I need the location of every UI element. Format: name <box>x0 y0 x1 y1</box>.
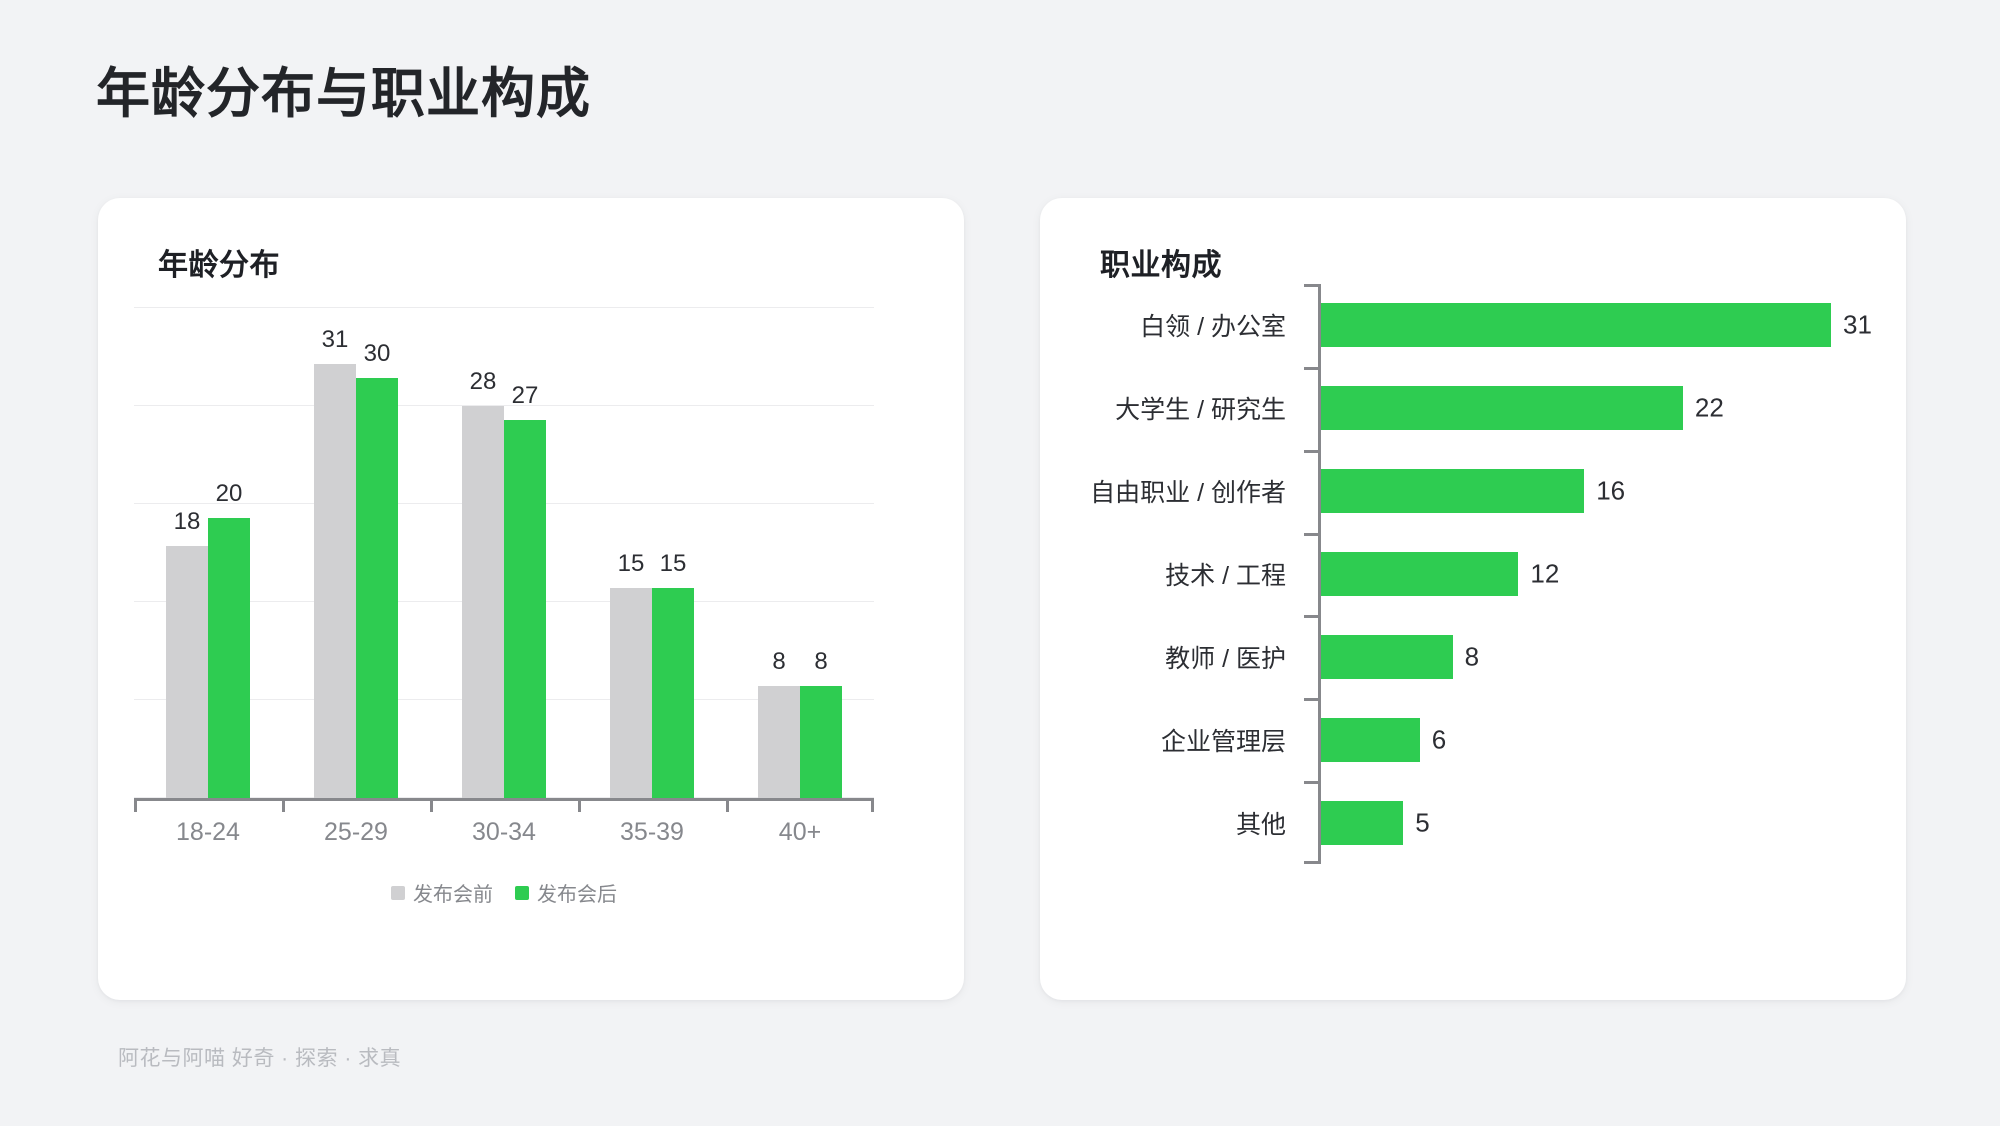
bar-pre-event[interactable]: 15 <box>610 588 652 798</box>
occupation-row[interactable]: 白领 / 办公室31 <box>1086 303 1866 347</box>
age-bar-group: 2827 <box>430 308 578 798</box>
occupation-category-label: 教师 / 医护 <box>1165 639 1304 675</box>
x-axis-tick <box>578 798 581 812</box>
occupation-bar[interactable] <box>1321 303 1831 347</box>
occupation-chart-title: 职业构成 <box>1100 240 1222 284</box>
bar-pair: 1515 <box>578 308 726 798</box>
legend-label: 发布会前 <box>413 878 493 907</box>
age-bar-group: 1820 <box>134 308 282 798</box>
bar-pre-event[interactable]: 28 <box>462 406 504 798</box>
age-chart-plot-area: 182031302827151588 <box>134 308 874 798</box>
legend-swatch-icon <box>391 886 405 900</box>
age-chart-x-tick-labels: 18-2425-2930-3435-3940+ <box>134 818 874 858</box>
occupation-bar[interactable] <box>1321 718 1420 762</box>
x-axis-tick <box>134 798 137 812</box>
occupation-value-label: 6 <box>1432 724 1446 755</box>
age-chart-title: 年龄分布 <box>158 240 280 284</box>
x-axis-tick <box>871 798 874 812</box>
bar-value-label: 8 <box>814 648 827 676</box>
bar-post-event[interactable]: 15 <box>652 588 694 798</box>
bar-pre-event[interactable]: 18 <box>166 546 208 798</box>
bar-post-event[interactable]: 8 <box>800 686 842 798</box>
occupation-category-label: 自由职业 / 创作者 <box>1090 473 1304 509</box>
legend-label: 发布会后 <box>537 878 617 907</box>
occupation-category-label: 其他 <box>1236 805 1304 841</box>
occupation-category-label: 技术 / 工程 <box>1165 556 1304 592</box>
occupation-category-label: 企业管理层 <box>1161 722 1304 758</box>
age-chart-legend: 发布会前发布会后 <box>134 878 874 907</box>
occupation-bar[interactable] <box>1321 635 1453 679</box>
x-axis-tick <box>430 798 433 812</box>
x-tick-label: 25-29 <box>324 818 388 847</box>
bar-pair: 3130 <box>282 308 430 798</box>
occupation-value-label: 12 <box>1530 559 1559 590</box>
age-distribution-card: 年龄分布 182031302827151588 18-2425-2930-343… <box>98 198 964 1000</box>
occupation-card: 职业构成 白领 / 办公室31大学生 / 研究生22自由职业 / 创作者16技术… <box>1040 198 1906 1000</box>
y-axis-tick <box>1304 450 1318 453</box>
legend-item[interactable]: 发布会后 <box>515 878 617 907</box>
occupation-value-label: 31 <box>1843 310 1872 341</box>
bar-post-event[interactable]: 27 <box>504 420 546 798</box>
occupation-row[interactable]: 教师 / 医护8 <box>1086 635 1866 679</box>
bar-pair: 88 <box>726 308 874 798</box>
footer-text: 阿花与阿喵 好奇 · 探索 · 求真 <box>118 1042 401 1072</box>
occupation-bar[interactable] <box>1321 386 1683 430</box>
occupation-value-label: 8 <box>1465 641 1479 672</box>
x-tick-label: 30-34 <box>472 818 536 847</box>
bar-pair: 2827 <box>430 308 578 798</box>
occupation-row[interactable]: 其他5 <box>1086 801 1866 845</box>
bar-pre-event[interactable]: 31 <box>314 364 356 798</box>
y-axis-cap-bottom <box>1304 861 1318 864</box>
occupation-bar[interactable] <box>1321 552 1518 596</box>
slide-root: 年龄分布与职业构成 年龄分布 182031302827151588 18-242… <box>0 0 2000 1126</box>
age-chart-x-axis <box>134 798 874 812</box>
occupation-bar[interactable] <box>1321 801 1403 845</box>
bar-value-label: 30 <box>364 340 391 368</box>
occupation-row[interactable]: 技术 / 工程12 <box>1086 552 1866 596</box>
x-axis-tick <box>726 798 729 812</box>
bar-pre-event[interactable]: 8 <box>758 686 800 798</box>
x-tick-label: 40+ <box>779 818 821 847</box>
bar-value-label: 27 <box>512 382 539 410</box>
occupation-chart-plot-area: 白领 / 办公室31大学生 / 研究生22自由职业 / 创作者16技术 / 工程… <box>1086 284 1866 864</box>
bar-value-label: 28 <box>470 368 497 396</box>
legend-item[interactable]: 发布会前 <box>391 878 493 907</box>
x-tick-label: 35-39 <box>620 818 684 847</box>
x-tick-label: 18-24 <box>176 818 240 847</box>
occupation-value-label: 22 <box>1695 393 1724 424</box>
bar-value-label: 31 <box>322 326 349 354</box>
x-axis-line <box>134 798 874 801</box>
age-bar-group: 88 <box>726 308 874 798</box>
bar-post-event[interactable]: 20 <box>208 518 250 798</box>
y-axis-tick <box>1304 781 1318 784</box>
occupation-row[interactable]: 自由职业 / 创作者16 <box>1086 469 1866 513</box>
occupation-category-label: 白领 / 办公室 <box>1140 307 1304 343</box>
page-title: 年龄分布与职业构成 <box>96 62 591 127</box>
legend-swatch-icon <box>515 886 529 900</box>
y-axis-tick <box>1304 698 1318 701</box>
occupation-bar[interactable] <box>1321 469 1584 513</box>
age-bar-group: 1515 <box>578 308 726 798</box>
occupation-value-label: 5 <box>1415 807 1429 838</box>
y-axis-tick <box>1304 367 1318 370</box>
age-bar-group: 3130 <box>282 308 430 798</box>
occupation-row[interactable]: 企业管理层6 <box>1086 718 1866 762</box>
bar-post-event[interactable]: 30 <box>356 378 398 798</box>
bar-value-label: 8 <box>772 648 785 676</box>
occupation-row[interactable]: 大学生 / 研究生22 <box>1086 386 1866 430</box>
y-axis-tick <box>1304 615 1318 618</box>
y-axis-tick <box>1304 284 1318 287</box>
bar-value-label: 15 <box>660 550 687 578</box>
occupation-category-label: 大学生 / 研究生 <box>1115 390 1304 426</box>
y-axis-tick <box>1304 533 1318 536</box>
bar-pair: 1820 <box>134 308 282 798</box>
bar-value-label: 15 <box>618 550 645 578</box>
x-axis-tick <box>282 798 285 812</box>
occupation-value-label: 16 <box>1596 476 1625 507</box>
bar-value-label: 18 <box>174 508 201 536</box>
bar-value-label: 20 <box>216 480 243 508</box>
